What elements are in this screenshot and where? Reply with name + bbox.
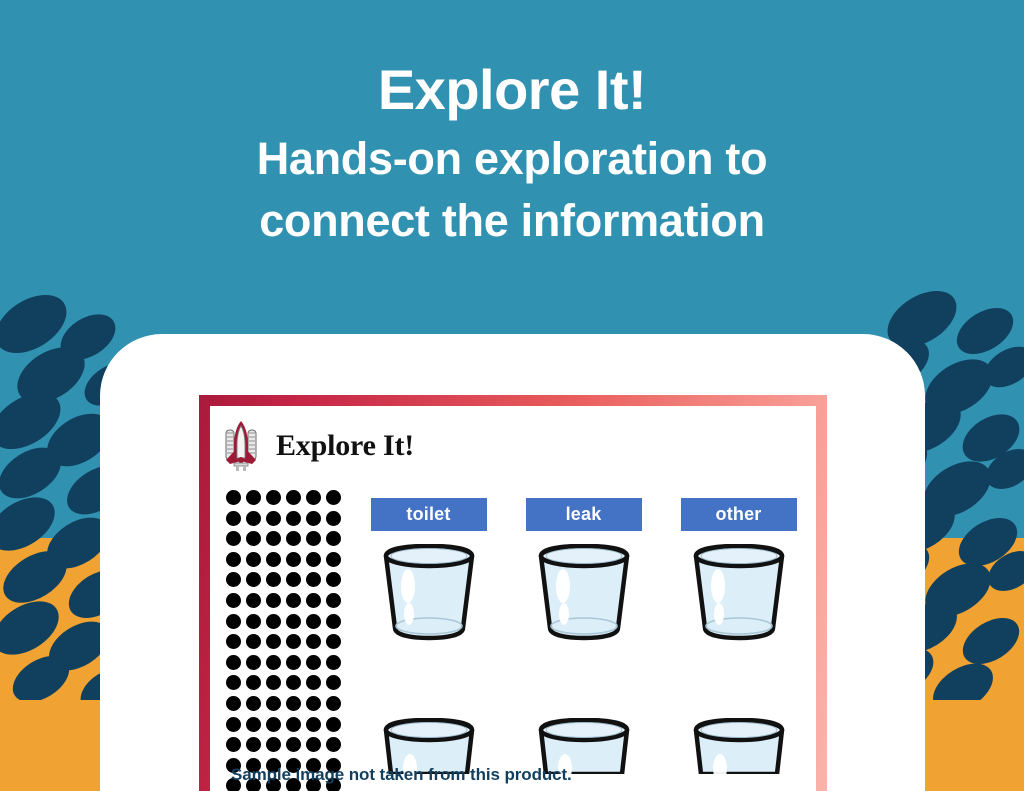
grid-dot xyxy=(286,593,301,608)
grid-dot xyxy=(286,696,301,711)
grid-dot xyxy=(306,737,321,752)
grid-dot xyxy=(326,696,341,711)
grid-dot xyxy=(226,552,241,567)
grid-dot xyxy=(226,634,241,649)
page-title: Explore It! Hands-on exploration to conn… xyxy=(0,62,1024,252)
grid-dot xyxy=(326,552,341,567)
grid-dot xyxy=(306,552,321,567)
grid-dot xyxy=(306,593,321,608)
grid-dot xyxy=(286,717,301,732)
headline-line-3: connect the information xyxy=(0,190,1024,252)
grid-dot xyxy=(226,511,241,526)
grid-dot xyxy=(326,737,341,752)
cup-column-toilet: toilet xyxy=(351,498,506,774)
grid-dot xyxy=(246,717,261,732)
grid-dot xyxy=(266,593,281,608)
grid-dot xyxy=(226,717,241,732)
grid-dot xyxy=(286,614,301,629)
headline-line-1: Explore It! xyxy=(0,62,1024,118)
grid-dot xyxy=(246,737,261,752)
slide-canvas: Explore It! Hands-on exploration to conn… xyxy=(0,0,1024,791)
grid-dot xyxy=(306,572,321,587)
grid-dot xyxy=(226,490,241,505)
grid-dot xyxy=(306,675,321,690)
grid-dot xyxy=(326,511,341,526)
grid-dot xyxy=(246,675,261,690)
grid-dot xyxy=(306,614,321,629)
grid-dot xyxy=(326,593,341,608)
worksheet-header: Explore It! xyxy=(224,420,414,472)
glass-cup-icon xyxy=(532,544,636,642)
cup-label-toilet[interactable]: toilet xyxy=(371,498,487,531)
glass-cup-icon xyxy=(687,718,791,774)
space-shuttle-icon xyxy=(224,420,258,472)
cup-column-other: other xyxy=(661,498,816,774)
grid-dot xyxy=(286,634,301,649)
grid-dot xyxy=(326,655,341,670)
cup-column-leak: leak xyxy=(506,498,661,774)
grid-dot xyxy=(266,490,281,505)
grid-dot xyxy=(226,737,241,752)
grid-dot xyxy=(326,490,341,505)
grid-dot xyxy=(266,675,281,690)
grid-dot xyxy=(266,696,281,711)
grid-dot xyxy=(286,511,301,526)
grid-dot xyxy=(226,696,241,711)
cup-columns: toiletleakother xyxy=(351,498,816,774)
headline-line-2: Hands-on exploration to xyxy=(0,128,1024,190)
grid-dot xyxy=(246,552,261,567)
grid-dot xyxy=(226,614,241,629)
grid-dot xyxy=(266,552,281,567)
grid-dot xyxy=(266,634,281,649)
cup-label-leak[interactable]: leak xyxy=(526,498,642,531)
grid-dot xyxy=(286,490,301,505)
grid-dot xyxy=(246,634,261,649)
grid-dot xyxy=(266,511,281,526)
worksheet-title: Explore It! xyxy=(276,429,414,463)
grid-dot xyxy=(286,531,301,546)
grid-dot xyxy=(266,572,281,587)
grid-dot xyxy=(226,572,241,587)
glass-cup-icon xyxy=(377,544,481,642)
grid-dot xyxy=(266,717,281,732)
grid-dot xyxy=(246,511,261,526)
grid-dot xyxy=(286,675,301,690)
glass-cup-icon xyxy=(687,544,791,642)
grid-dot xyxy=(306,531,321,546)
grid-dot xyxy=(306,511,321,526)
grid-dot xyxy=(266,531,281,546)
grid-dot xyxy=(326,634,341,649)
grid-dot xyxy=(326,572,341,587)
grid-dot xyxy=(246,490,261,505)
grid-dot xyxy=(246,614,261,629)
grid-dot xyxy=(226,655,241,670)
grid-dot xyxy=(246,572,261,587)
grid-dot xyxy=(306,696,321,711)
grid-dot xyxy=(246,593,261,608)
worksheet-page: Explore It! toiletleakother xyxy=(210,406,816,791)
grid-dot xyxy=(326,531,341,546)
grid-dot xyxy=(226,531,241,546)
grid-dot xyxy=(286,737,301,752)
grid-dot xyxy=(306,655,321,670)
grid-dot xyxy=(306,717,321,732)
worksheet-gradient-border: Explore It! toiletleakother xyxy=(199,395,827,791)
grid-dot xyxy=(246,531,261,546)
grid-dot xyxy=(286,572,301,587)
grid-dot xyxy=(266,737,281,752)
grid-dot xyxy=(226,593,241,608)
grid-dot xyxy=(326,614,341,629)
grid-dot xyxy=(246,696,261,711)
dot-grid xyxy=(224,488,344,791)
grid-dot xyxy=(266,614,281,629)
grid-dot xyxy=(226,675,241,690)
cup-label-other[interactable]: other xyxy=(681,498,797,531)
grid-dot xyxy=(306,634,321,649)
grid-dot xyxy=(286,655,301,670)
tablet-device-frame: Explore It! toiletleakother xyxy=(100,334,925,791)
grid-dot xyxy=(326,675,341,690)
grid-dot xyxy=(266,655,281,670)
grid-dot xyxy=(246,655,261,670)
grid-dot xyxy=(306,490,321,505)
grid-dot xyxy=(326,717,341,732)
grid-dot xyxy=(286,552,301,567)
disclaimer-caption: Sample image not taken from this product… xyxy=(231,765,572,785)
